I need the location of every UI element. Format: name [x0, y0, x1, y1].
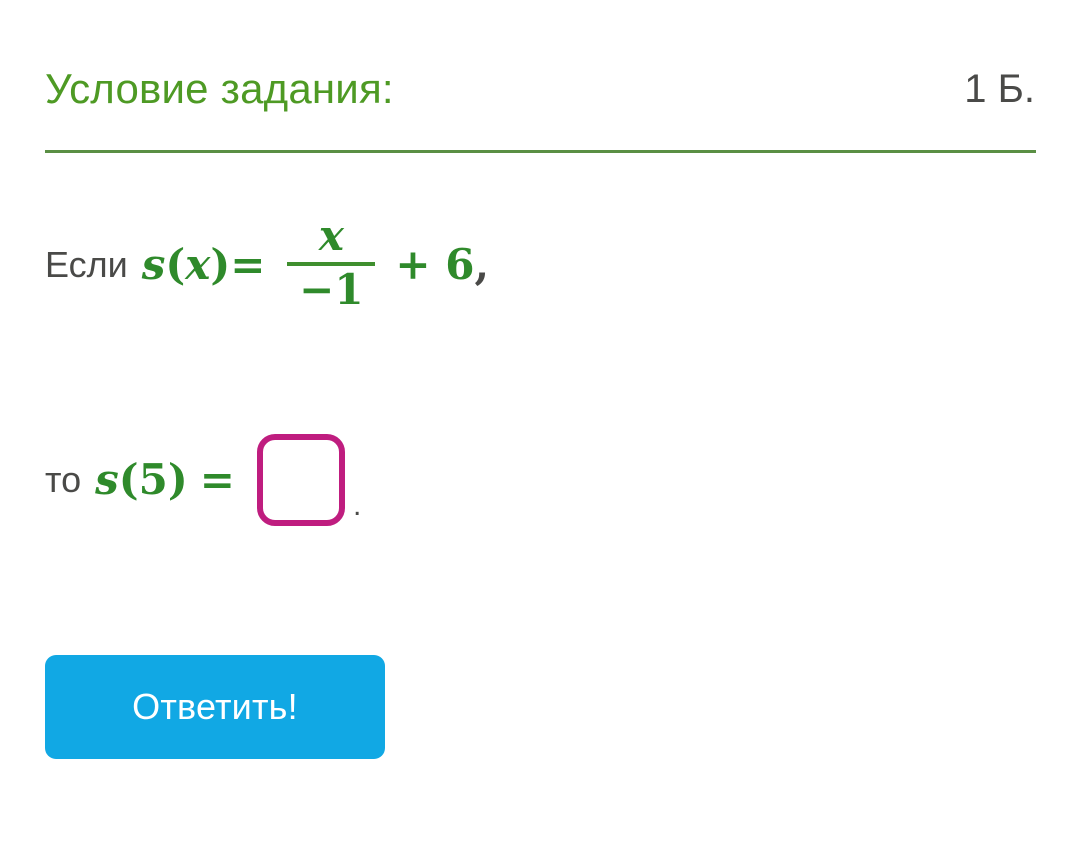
fraction: x −1 [287, 214, 375, 312]
then-close-paren: ) [168, 459, 188, 501]
sentence-period: . [353, 491, 361, 535]
then-argument: 5 [139, 459, 168, 501]
if-word: Если [45, 247, 128, 283]
condition-line: Если s ( x ) = x −1 + 6 , [45, 205, 489, 325]
fraction-denominator: −1 [293, 268, 369, 313]
function-name: s [142, 244, 166, 286]
score-badge: 1 Б. [964, 69, 1035, 109]
task-header: Условие задания: 1 Б. [45, 58, 1035, 120]
then-word: то [45, 462, 81, 498]
then-equals-sign: = [200, 459, 235, 501]
submit-answer-button[interactable]: Ответить! [45, 655, 385, 759]
answer-input[interactable] [257, 434, 345, 526]
header-divider [45, 150, 1036, 153]
then-open-paren: ( [119, 459, 139, 501]
open-paren: ( [165, 244, 185, 286]
fraction-numerator: x [313, 214, 350, 259]
function-variable: x [185, 244, 210, 286]
plus-six-term: + 6 [395, 244, 474, 286]
answer-line: то s ( 5 ) = . [45, 425, 361, 535]
page-title: Условие задания: [45, 68, 394, 110]
close-paren: ) [210, 244, 230, 286]
then-function-name: s [95, 459, 119, 501]
comma: , [474, 244, 489, 286]
equals-sign: = [230, 244, 265, 286]
